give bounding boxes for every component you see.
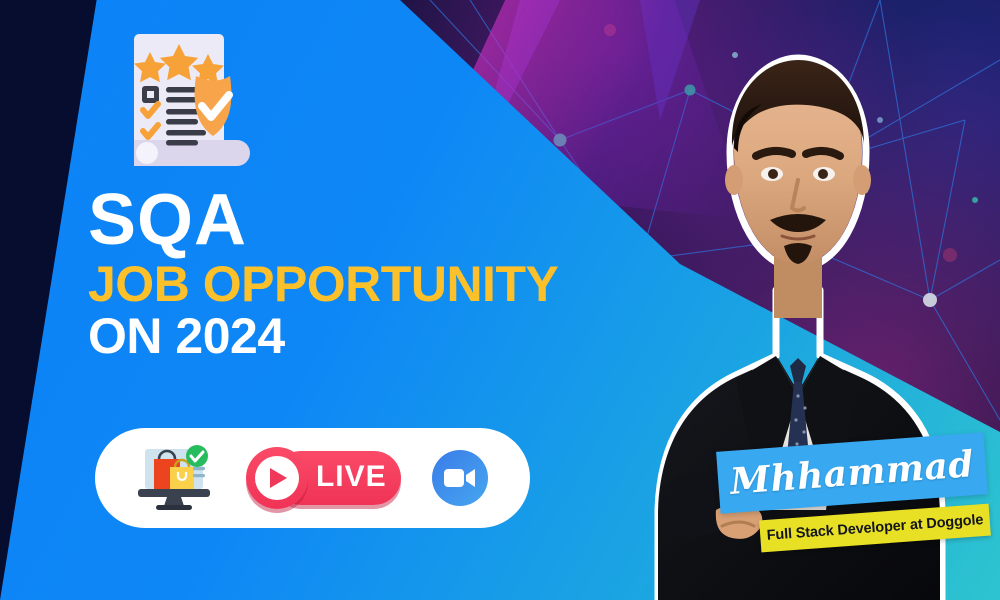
zoom-circle-background — [432, 450, 488, 506]
promo-banner: SQA JOB OPPORTUNITY ON 2024 — [0, 0, 1000, 600]
speaker-name: Mhhammad — [729, 443, 976, 503]
platform-icons-pill: LIVE — [95, 428, 530, 528]
play-triangle-icon — [270, 468, 287, 488]
play-button-circle[interactable] — [246, 447, 308, 509]
ecommerce-monitor-icon[interactable] — [137, 445, 215, 511]
zoom-video-camera-icon[interactable] — [432, 450, 488, 506]
play-button-inner — [255, 456, 299, 500]
live-play-badge-icon[interactable]: LIVE — [246, 447, 401, 509]
qa-checklist-document-icon — [118, 28, 268, 176]
live-label: LIVE — [316, 461, 387, 493]
